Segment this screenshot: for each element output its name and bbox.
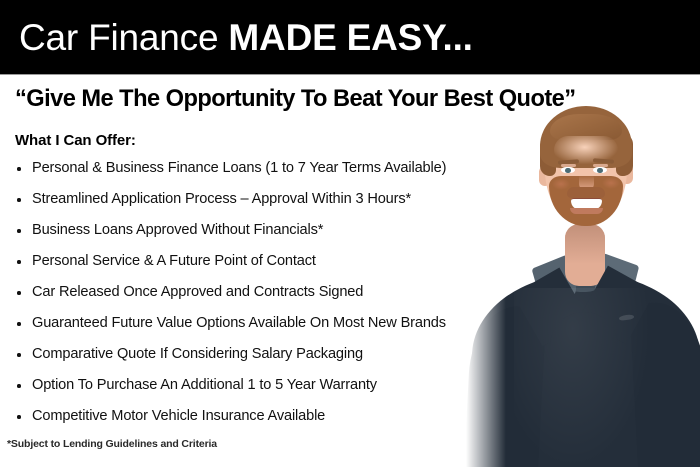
list-item: Personal & Business Finance Loans (1 to … xyxy=(15,159,515,190)
list-item-label: Streamlined Application Process – Approv… xyxy=(32,191,411,207)
eye-left xyxy=(561,167,575,173)
list-item-label: Personal Service & A Future Point of Con… xyxy=(32,253,316,269)
page-title: Car Finance MADE EASY... xyxy=(19,16,473,60)
header-band: Car Finance MADE EASY... xyxy=(0,0,700,74)
bullet-dot-icon xyxy=(17,384,21,388)
list-item: Streamlined Application Process – Approv… xyxy=(15,190,515,221)
footnote-disclaimer: *Subject to Lending Guidelines and Crite… xyxy=(7,438,217,451)
tagline-quote: “Give Me The Opportunity To Beat Your Be… xyxy=(15,84,675,114)
cheek-right xyxy=(602,177,620,189)
list-item: Comparative Quote If Considering Salary … xyxy=(15,345,515,376)
bullet-dot-icon xyxy=(17,198,21,202)
bullet-dot-icon xyxy=(17,291,21,295)
eyelid-left xyxy=(561,164,576,167)
bullet-dot-icon xyxy=(17,353,21,357)
list-item-label: Personal & Business Finance Loans (1 to … xyxy=(32,160,446,176)
list-item: Personal Service & A Future Point of Con… xyxy=(15,252,515,283)
cheek-left xyxy=(552,178,570,190)
list-item: Option To Purchase An Additional 1 to 5 … xyxy=(15,376,515,407)
bullet-dot-icon xyxy=(17,415,21,419)
page-title-light: Car Finance xyxy=(19,17,228,58)
list-item-label: Business Loans Approved Without Financia… xyxy=(32,222,323,238)
page-title-bold: MADE EASY... xyxy=(228,17,472,58)
poster-advertisement: Car Finance MADE EASY... xyxy=(0,0,700,467)
list-item-label: Car Released Once Approved and Contracts… xyxy=(32,284,363,300)
list-item: Competitive Motor Vehicle Insurance Avai… xyxy=(15,407,515,438)
eye-right xyxy=(593,167,607,173)
eyelid-right xyxy=(593,164,608,167)
bullet-dot-icon xyxy=(17,167,21,171)
offer-heading: What I Can Offer: xyxy=(15,131,136,150)
list-item-label: Competitive Motor Vehicle Insurance Avai… xyxy=(32,408,325,424)
header-divider xyxy=(0,74,700,75)
list-item-label: Guaranteed Future Value Options Availabl… xyxy=(32,315,446,331)
list-item: Car Released Once Approved and Contracts… xyxy=(15,283,515,314)
bullet-dot-icon xyxy=(17,229,21,233)
list-item: Business Loans Approved Without Financia… xyxy=(15,221,515,252)
bullet-dot-icon xyxy=(17,260,21,264)
lower-lip xyxy=(570,208,603,214)
list-item: Guaranteed Future Value Options Availabl… xyxy=(15,314,515,345)
offer-list: Personal & Business Finance Loans (1 to … xyxy=(15,159,515,438)
moustache xyxy=(567,187,605,198)
bullet-dot-icon xyxy=(17,322,21,326)
neck-shadow xyxy=(565,224,605,264)
list-item-label: Option To Purchase An Additional 1 to 5 … xyxy=(32,377,377,393)
list-item-label: Comparative Quote If Considering Salary … xyxy=(32,346,363,362)
